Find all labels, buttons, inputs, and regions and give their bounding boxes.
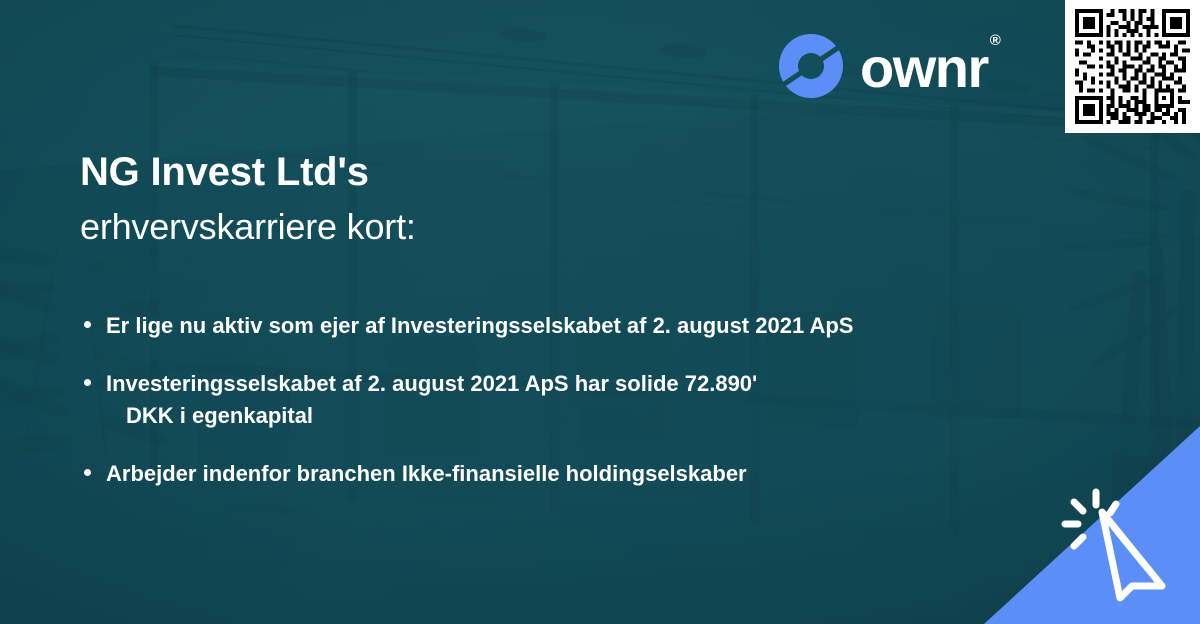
list-item: Investeringsselskabet af 2. august 2021 …: [80, 368, 990, 432]
heading-block: NG Invest Ltd's erhvervskarriere kort:: [80, 150, 1040, 248]
bullet-dot-icon: [84, 469, 91, 476]
ownr-wordmark-text: ownr: [860, 36, 988, 99]
list-item-text: Er lige nu aktiv som ejer af Investering…: [106, 313, 853, 338]
qr-code: [1075, 9, 1190, 124]
ownr-logo[interactable]: ownr®: [778, 33, 997, 99]
ownr-circular-swoosh-mark: [778, 33, 844, 99]
list-item-text: Investeringsselskabet af 2. august 2021 …: [106, 371, 757, 396]
click-cursor-icon: [1058, 486, 1178, 602]
list-item: Er lige nu aktiv som ejer af Investering…: [80, 310, 990, 342]
company-card: ownr®: [0, 0, 1200, 624]
page-subtitle: erhvervskarriere kort:: [80, 205, 1040, 248]
list-item-text-line2: DKK i egenkapital: [106, 400, 990, 432]
list-item-text: Arbejder indenfor branchen Ikke-finansie…: [106, 461, 747, 486]
bullet-dot-icon: [84, 379, 91, 386]
bullet-dot-icon: [84, 321, 91, 328]
ownr-wordmark: ownr®: [860, 40, 997, 96]
qr-code-panel[interactable]: [1065, 0, 1200, 133]
fact-list: Er lige nu aktiv som ejer af Investering…: [80, 310, 1080, 490]
list-item: Arbejder indenfor branchen Ikke-finansie…: [80, 458, 990, 490]
page-title: NG Invest Ltd's: [80, 150, 1040, 195]
registered-trademark-icon: ®: [990, 32, 1000, 49]
